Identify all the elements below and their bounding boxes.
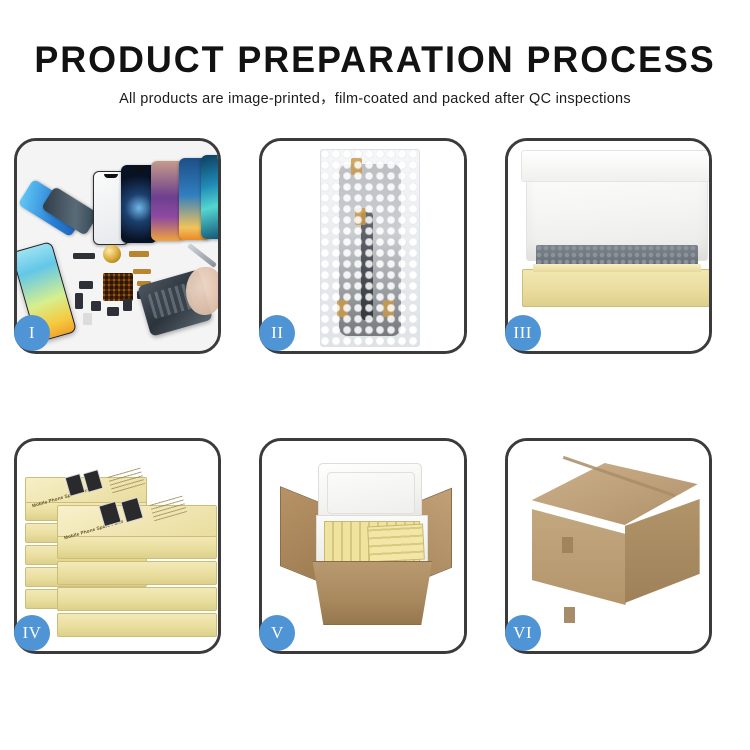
step-badge-6: VI (505, 615, 541, 651)
process-step-2[interactable]: II (259, 138, 466, 354)
box-stack: Mobile Phone Spare Parts Mobile Phone Sp… (25, 461, 218, 637)
stacked-box (57, 561, 217, 585)
vibration-motor-part (103, 245, 121, 263)
step-badge-1: I (14, 315, 50, 351)
page-title: PRODUCT PREPARATION PROCESS (11, 38, 739, 82)
process-step-3[interactable]: III (505, 138, 712, 354)
carton-front-panel (304, 561, 440, 625)
foam-lid (318, 463, 422, 523)
step-4-image: Mobile Phone Spare Parts Mobile Phone Sp… (17, 441, 218, 651)
stacked-box (57, 613, 217, 637)
process-step-1[interactable]: I (14, 138, 221, 354)
process-row-1: I II I (0, 138, 750, 354)
chip-part (107, 307, 119, 316)
process-step-5[interactable]: V (259, 438, 466, 654)
step-badge-4: IV (14, 615, 50, 651)
inner-box-base (522, 269, 709, 307)
carton-tab (562, 537, 573, 553)
chip-part (79, 281, 93, 289)
page-subtitle: All products are image-printed，film-coat… (0, 89, 750, 109)
stacked-box (57, 535, 217, 559)
flex-cable (129, 251, 149, 257)
process-step-4[interactable]: Mobile Phone Spare Parts Mobile Phone Sp… (14, 438, 221, 654)
notch-icon (132, 167, 146, 171)
chip-part (123, 299, 132, 311)
connector-tape (337, 300, 348, 317)
connector-tape (355, 208, 366, 225)
carton-left-panel (532, 509, 626, 605)
step-6-image (508, 441, 709, 651)
step-3-image (508, 141, 709, 351)
step-badge-3: III (505, 315, 541, 351)
camera-module (83, 313, 92, 325)
phone-screen-lineup (35, 155, 218, 247)
process-step-6[interactable]: VI (505, 438, 712, 654)
chip-part (73, 253, 95, 259)
hand (186, 267, 218, 315)
connector-tape (383, 300, 394, 317)
connector-tape (351, 158, 362, 175)
notch-icon (104, 174, 118, 178)
process-grid: I II I (0, 138, 750, 738)
flex-cable (361, 212, 373, 320)
bubble-wrap-bag (320, 149, 420, 347)
inner-boxes-yellow (367, 524, 425, 563)
stacked-box (57, 587, 217, 611)
step-1-image (17, 141, 218, 351)
page-header: PRODUCT PREPARATION PROCESS All products… (0, 0, 750, 109)
chip-part (75, 293, 83, 309)
screw-set (103, 273, 133, 301)
phone-screen-teal (201, 155, 218, 239)
carton-tab (564, 607, 575, 623)
step-2-image (262, 141, 463, 351)
chip-part (91, 301, 101, 311)
flex-cable (133, 269, 151, 274)
process-row-2: Mobile Phone Spare Parts Mobile Phone Sp… (0, 438, 750, 654)
step-5-image (262, 441, 463, 651)
